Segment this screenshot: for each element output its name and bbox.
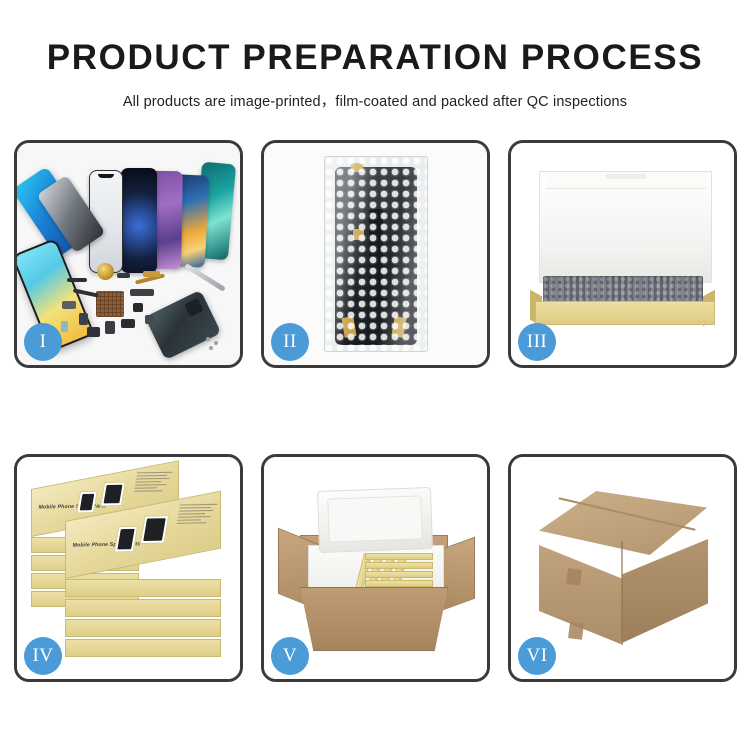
- step-panel-2[interactable]: II: [261, 140, 490, 368]
- inner-box-lid: [539, 171, 712, 283]
- step-panel-3[interactable]: III: [508, 140, 737, 368]
- page-subtitle: All products are image-printed，film-coat…: [0, 90, 750, 111]
- carton-front-wall: [300, 587, 448, 651]
- step-badge-1: I: [24, 323, 62, 361]
- small-part: [133, 303, 143, 312]
- copper-coil-part: [97, 263, 114, 280]
- step-badge-2: II: [271, 323, 309, 361]
- spec-text-lines: [176, 504, 217, 526]
- phone-screen-dark: [121, 168, 157, 273]
- carton-tape-lower: [568, 622, 584, 640]
- header: PRODUCT PREPARATION PROCESS All products…: [0, 40, 750, 111]
- small-part: [87, 327, 100, 337]
- small-part: [145, 315, 154, 324]
- small-part: [105, 321, 115, 334]
- product-window: [114, 526, 138, 553]
- carton-tape-upper: [566, 568, 582, 586]
- step-badge-4: IV: [24, 637, 62, 675]
- retail-box-label: Mobile Phone Spare Parts: [38, 503, 107, 510]
- product-preparation-process-page: PRODUCT PREPARATION PROCESS All products…: [0, 0, 750, 750]
- small-part: [67, 278, 87, 282]
- small-part: [143, 271, 160, 277]
- page-title: PRODUCT PREPARATION PROCESS: [0, 40, 750, 77]
- retail-box-stack: Mobile Phone Spare Parts: [25, 475, 237, 665]
- box-front-face: [535, 301, 715, 325]
- foam-box-lid: [317, 487, 433, 553]
- step-badge-5: V: [271, 637, 309, 675]
- product-window: [100, 482, 126, 507]
- spec-text-lines: [133, 472, 172, 494]
- small-part: [117, 273, 130, 278]
- notch-icon: [98, 174, 114, 178]
- yellow-box: [365, 553, 433, 560]
- screws-group: [206, 337, 222, 351]
- yellow-box: [365, 571, 433, 578]
- bubble-wrap-padding: [543, 276, 703, 304]
- retail-box-side: [65, 579, 221, 597]
- small-part: [79, 313, 88, 325]
- yellow-box: [365, 580, 433, 587]
- step-panel-1[interactable]: I: [14, 140, 243, 368]
- carton-corner-seam: [621, 541, 623, 641]
- plastic-sheen: [325, 157, 427, 351]
- small-part: [130, 289, 154, 296]
- yellow-box: [365, 562, 433, 569]
- step-panel-5[interactable]: V: [261, 454, 490, 682]
- process-step-grid: I II: [14, 140, 736, 682]
- bubble-wrap-bag: [324, 156, 428, 352]
- small-part: [62, 301, 76, 309]
- retail-box-side: [65, 639, 221, 657]
- retail-box-side: [65, 599, 221, 617]
- step-badge-6: VI: [518, 637, 556, 675]
- product-window: [76, 491, 98, 514]
- chip-grid-part: [96, 291, 124, 317]
- product-window: [140, 515, 169, 544]
- step-panel-6[interactable]: VI: [508, 454, 737, 682]
- small-part: [121, 319, 135, 328]
- step-badge-3: III: [518, 323, 556, 361]
- step-panel-4[interactable]: Mobile Phone Spare Parts: [14, 454, 243, 682]
- small-part: [61, 321, 68, 332]
- retail-box-side: [65, 619, 221, 637]
- yellow-boxes-inside: [319, 549, 435, 587]
